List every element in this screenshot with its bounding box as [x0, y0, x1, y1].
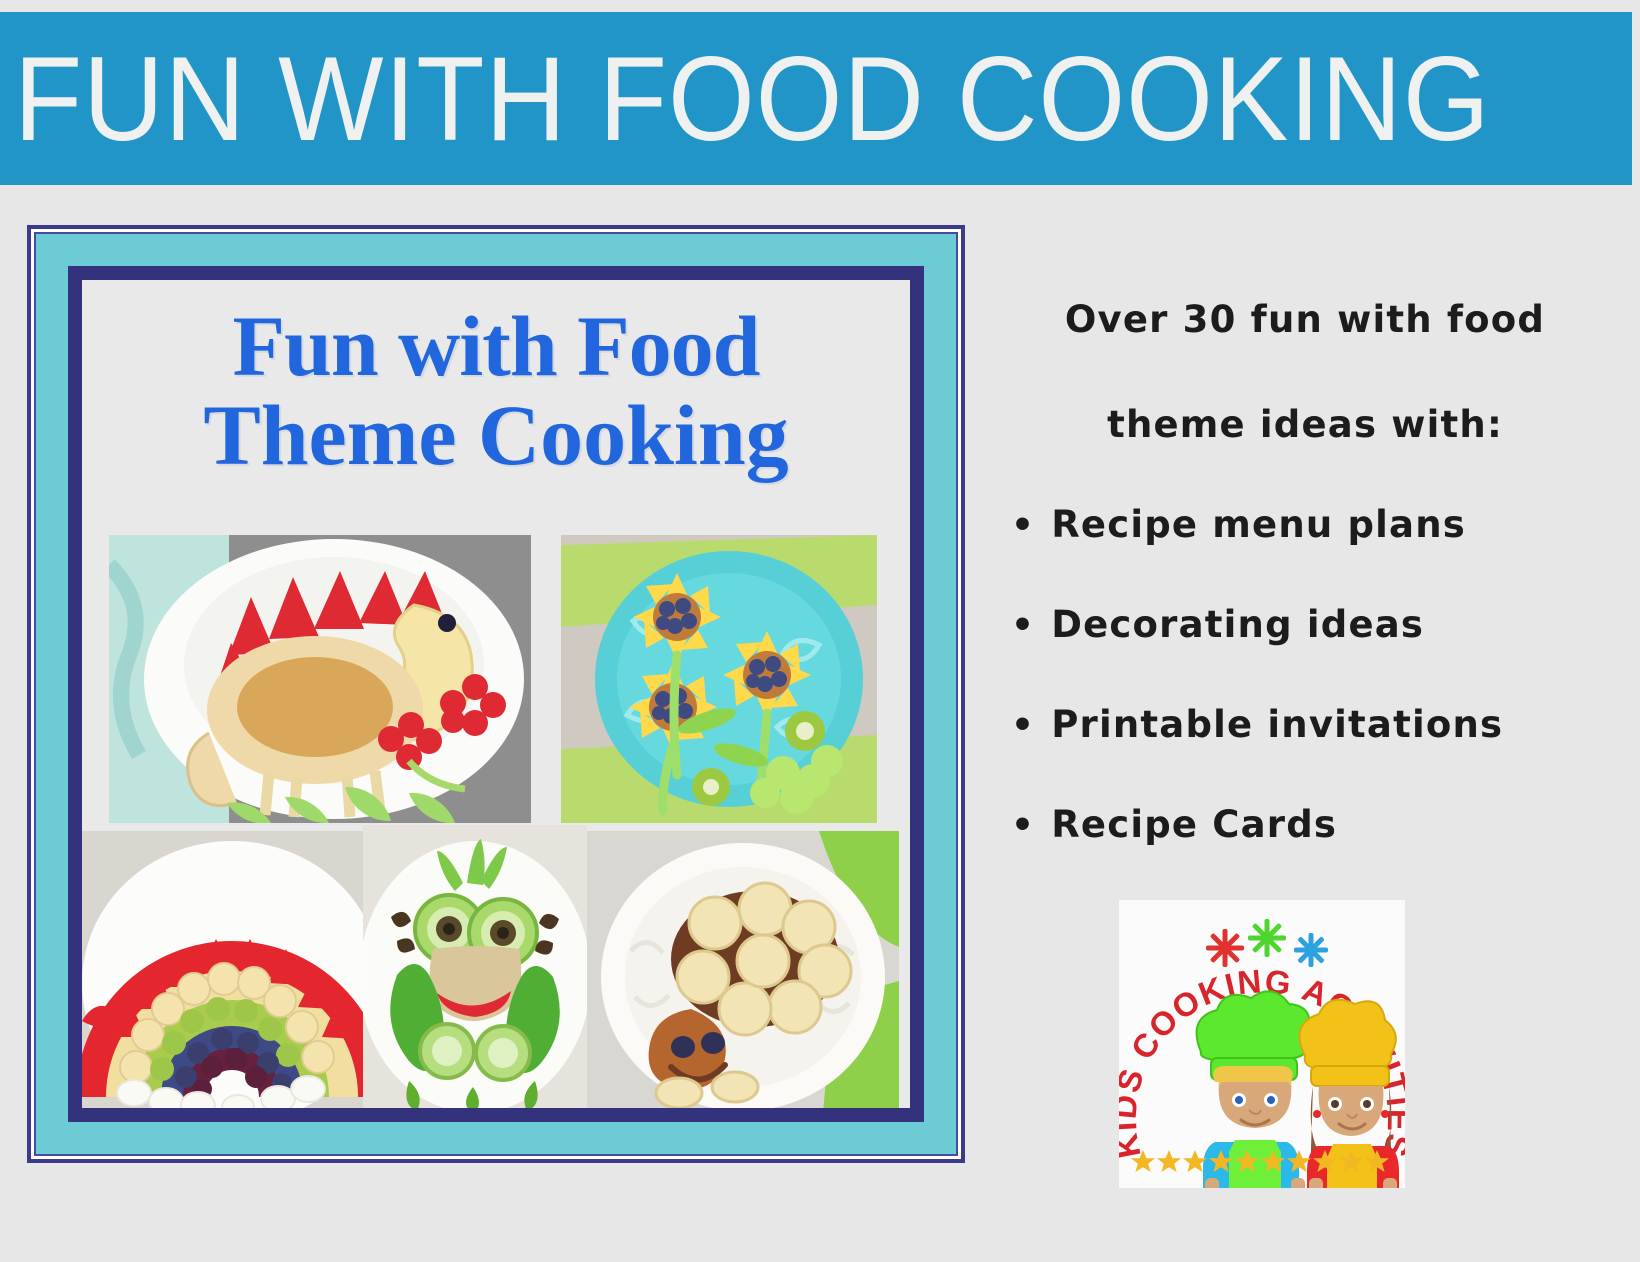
- sparkle-blue-icon: [1294, 933, 1328, 967]
- bullet-dot-icon: •: [1011, 808, 1035, 844]
- poster-title: Fun with Food Theme Cooking: [82, 280, 910, 479]
- pancake-dinosaur-icon: [109, 535, 531, 823]
- list-item-label: Recipe menu plans: [1051, 503, 1466, 546]
- photo-fruit-rainbow: [82, 831, 363, 1113]
- intro-line-1: Over 30 fun with food: [995, 300, 1615, 341]
- sunflower-plate-icon: [561, 535, 877, 823]
- sparkle-green-icon: [1248, 919, 1286, 957]
- list-item: • Printable invitations: [995, 703, 1615, 746]
- photo-pancake-dinosaur-strawberries: [109, 535, 531, 823]
- fruit-rainbow-icon: [82, 831, 363, 1113]
- list-item: • Recipe menu plans: [995, 503, 1615, 546]
- photo-grid: [82, 535, 910, 1108]
- bullet-dot-icon: •: [1011, 508, 1035, 544]
- photo-banana-nutella-turtle: [587, 831, 899, 1113]
- cucumber-frog-icon: [363, 825, 587, 1113]
- feature-bullet-list: • Recipe menu plans • Decorating ideas •…: [995, 503, 1615, 846]
- poster-frame: Fun with Food Theme Cooking: [27, 225, 965, 1163]
- photo-pineapple-sunflower-blueberries: [561, 535, 877, 823]
- list-item-label: Printable invitations: [1051, 703, 1503, 746]
- header-banner: FUN WITH FOOD COOKING: [0, 12, 1632, 185]
- page-title: FUN WITH FOOD COOKING: [14, 39, 1490, 159]
- kids-cooking-activities-logo: KIDS COOKING ACTIVITIES: [1119, 900, 1405, 1188]
- list-item-label: Decorating ideas: [1051, 603, 1424, 646]
- list-item: • Recipe Cards: [995, 803, 1615, 846]
- poster-content: Fun with Food Theme Cooking: [68, 266, 924, 1122]
- poster-title-line2: Theme Cooking: [82, 391, 910, 480]
- bullet-dot-icon: •: [1011, 708, 1035, 744]
- intro-line-2: theme ideas with:: [995, 405, 1615, 446]
- poster-frame-band: Fun with Food Theme Cooking: [34, 232, 958, 1156]
- banana-turtle-icon: [587, 831, 899, 1113]
- bullet-dot-icon: •: [1011, 608, 1035, 644]
- feature-list-panel: Over 30 fun with food theme ideas with: …: [995, 300, 1615, 903]
- logo-artwork: KIDS COOKING ACTIVITIES: [1119, 900, 1405, 1188]
- photo-cucumber-frog-face: [363, 825, 587, 1113]
- list-item-label: Recipe Cards: [1051, 803, 1337, 846]
- sparkle-red-icon: [1206, 929, 1244, 967]
- poster-title-line1: Fun with Food: [82, 302, 910, 391]
- list-item: • Decorating ideas: [995, 603, 1615, 646]
